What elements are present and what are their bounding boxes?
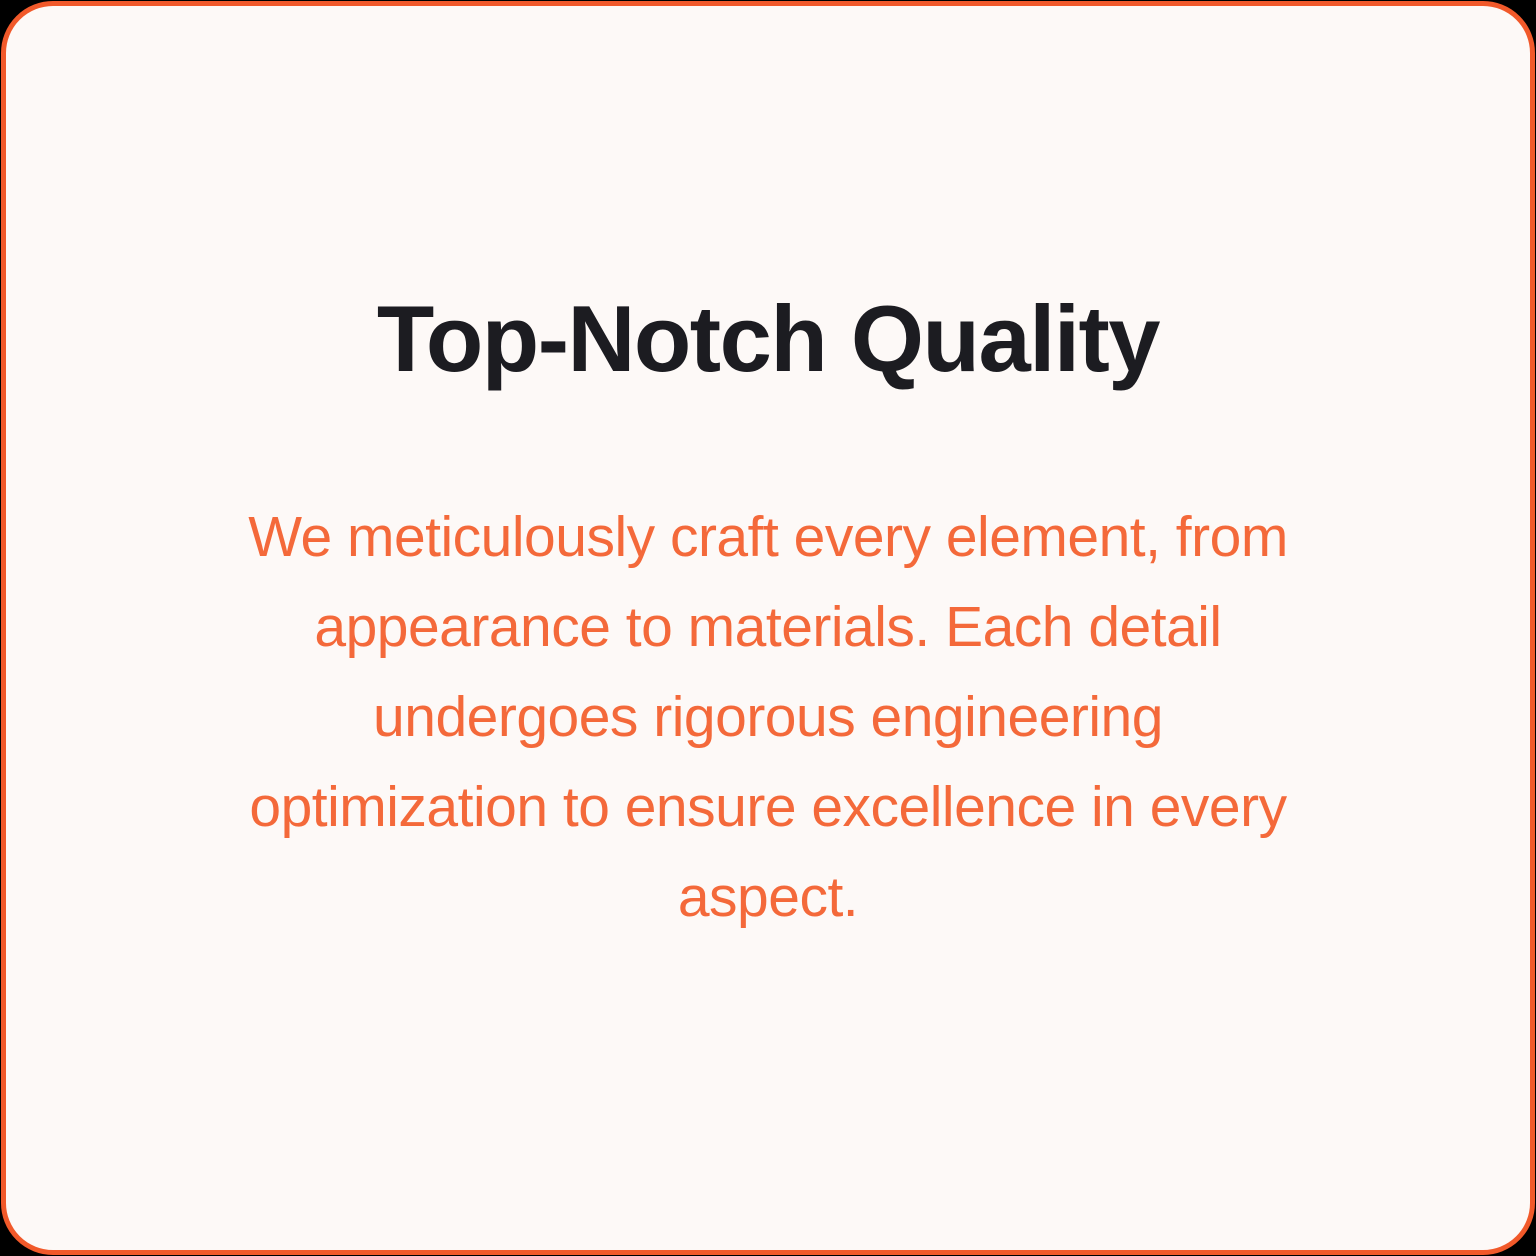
card-content: Top-Notch Quality We meticulously craft … <box>118 6 1418 942</box>
description-line-5: aspect. <box>118 852 1418 942</box>
top-notch-quality-card: Top-Notch Quality We meticulously craft … <box>1 1 1535 1255</box>
description-line-2: appearance to materials. Each detail <box>118 582 1418 672</box>
description-line-3: undergoes rigorous engineering <box>118 672 1418 762</box>
screenshot-frame: Top-Notch Quality We meticulously craft … <box>0 0 1536 1256</box>
page-title: Top-Notch Quality <box>118 292 1418 386</box>
description-line-4: optimization to ensure excellence in eve… <box>118 762 1418 852</box>
description-line-1: We meticulously craft every element, fro… <box>118 492 1418 582</box>
card-description: We meticulously craft every element, fro… <box>118 386 1418 942</box>
